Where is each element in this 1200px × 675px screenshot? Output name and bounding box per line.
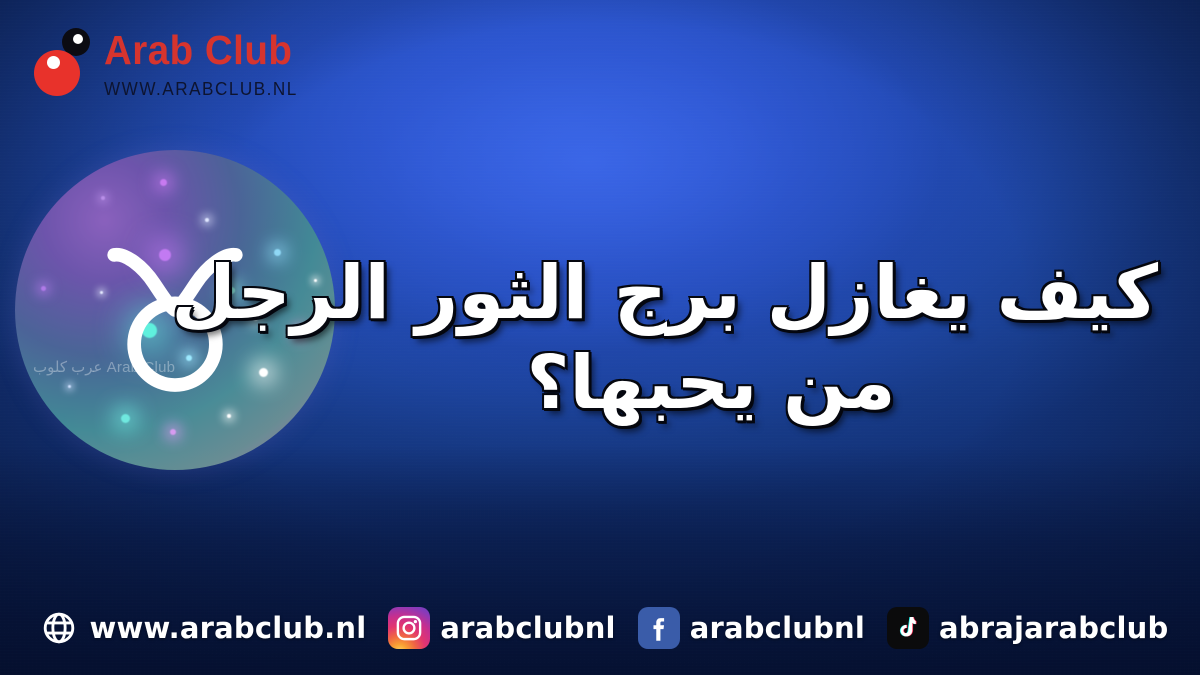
social-bar: www.arabclub.nl arabclubnl arabc	[0, 607, 1200, 649]
headline: كيف يغازل برج الثور الرجل من يحبها؟	[322, 248, 1162, 429]
instagram-icon	[388, 607, 430, 649]
globe-icon	[39, 608, 79, 648]
social-label-tiktok: abrajarabclub	[939, 611, 1168, 645]
social-item-instagram[interactable]: arabclubnl	[388, 607, 615, 649]
poster-canvas: Arab Club WWW.ARABCLUB.NL عرب كلوب Arab …	[0, 0, 1200, 675]
social-label-website: www.arabclub.nl	[89, 611, 366, 645]
social-item-facebook[interactable]: arabclubnl	[638, 607, 865, 649]
brand-text-block: Arab Club WWW.ARABCLUB.NL	[104, 22, 308, 98]
tiktok-icon	[887, 607, 929, 649]
brand-title: Arab Club	[104, 30, 296, 71]
headline-line-2: من يحبها؟	[322, 338, 1162, 428]
social-label-facebook: arabclubnl	[690, 611, 865, 645]
logo-red-dot-icon	[34, 50, 80, 96]
social-item-tiktok[interactable]: abrajarabclub	[887, 607, 1168, 649]
headline-line-1: كيف يغازل برج الثور الرجل	[322, 248, 1162, 338]
brand-header: Arab Club WWW.ARABCLUB.NL	[28, 22, 308, 100]
two-dots-logo-icon	[28, 22, 94, 100]
social-label-instagram: arabclubnl	[440, 611, 615, 645]
facebook-icon	[638, 607, 680, 649]
social-item-website[interactable]: www.arabclub.nl	[39, 608, 366, 648]
brand-url: WWW.ARABCLUB.NL	[104, 80, 298, 98]
